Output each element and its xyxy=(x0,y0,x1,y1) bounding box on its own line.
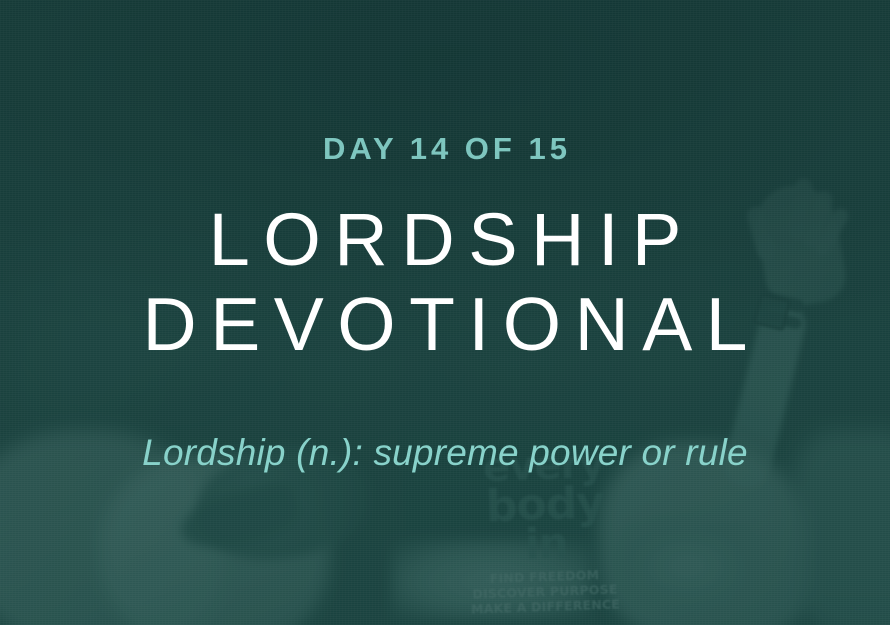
title-line-devotional: DEVOTIONAL xyxy=(129,290,761,359)
definition-subtitle: Lordship (n.): supreme power or rule xyxy=(142,434,748,471)
title-card-content: DAY 14 OF 15 LORDSHIP DEVOTIONAL Lordshi… xyxy=(0,0,890,625)
devotional-title-card: every body in FIND FREEDOM DISCOVER PURP… xyxy=(0,0,890,625)
title-line-lordship: LORDSHIP xyxy=(209,198,695,281)
page-title: LORDSHIP DEVOTIONAL xyxy=(129,206,761,359)
day-counter-label: DAY 14 OF 15 xyxy=(319,133,571,164)
